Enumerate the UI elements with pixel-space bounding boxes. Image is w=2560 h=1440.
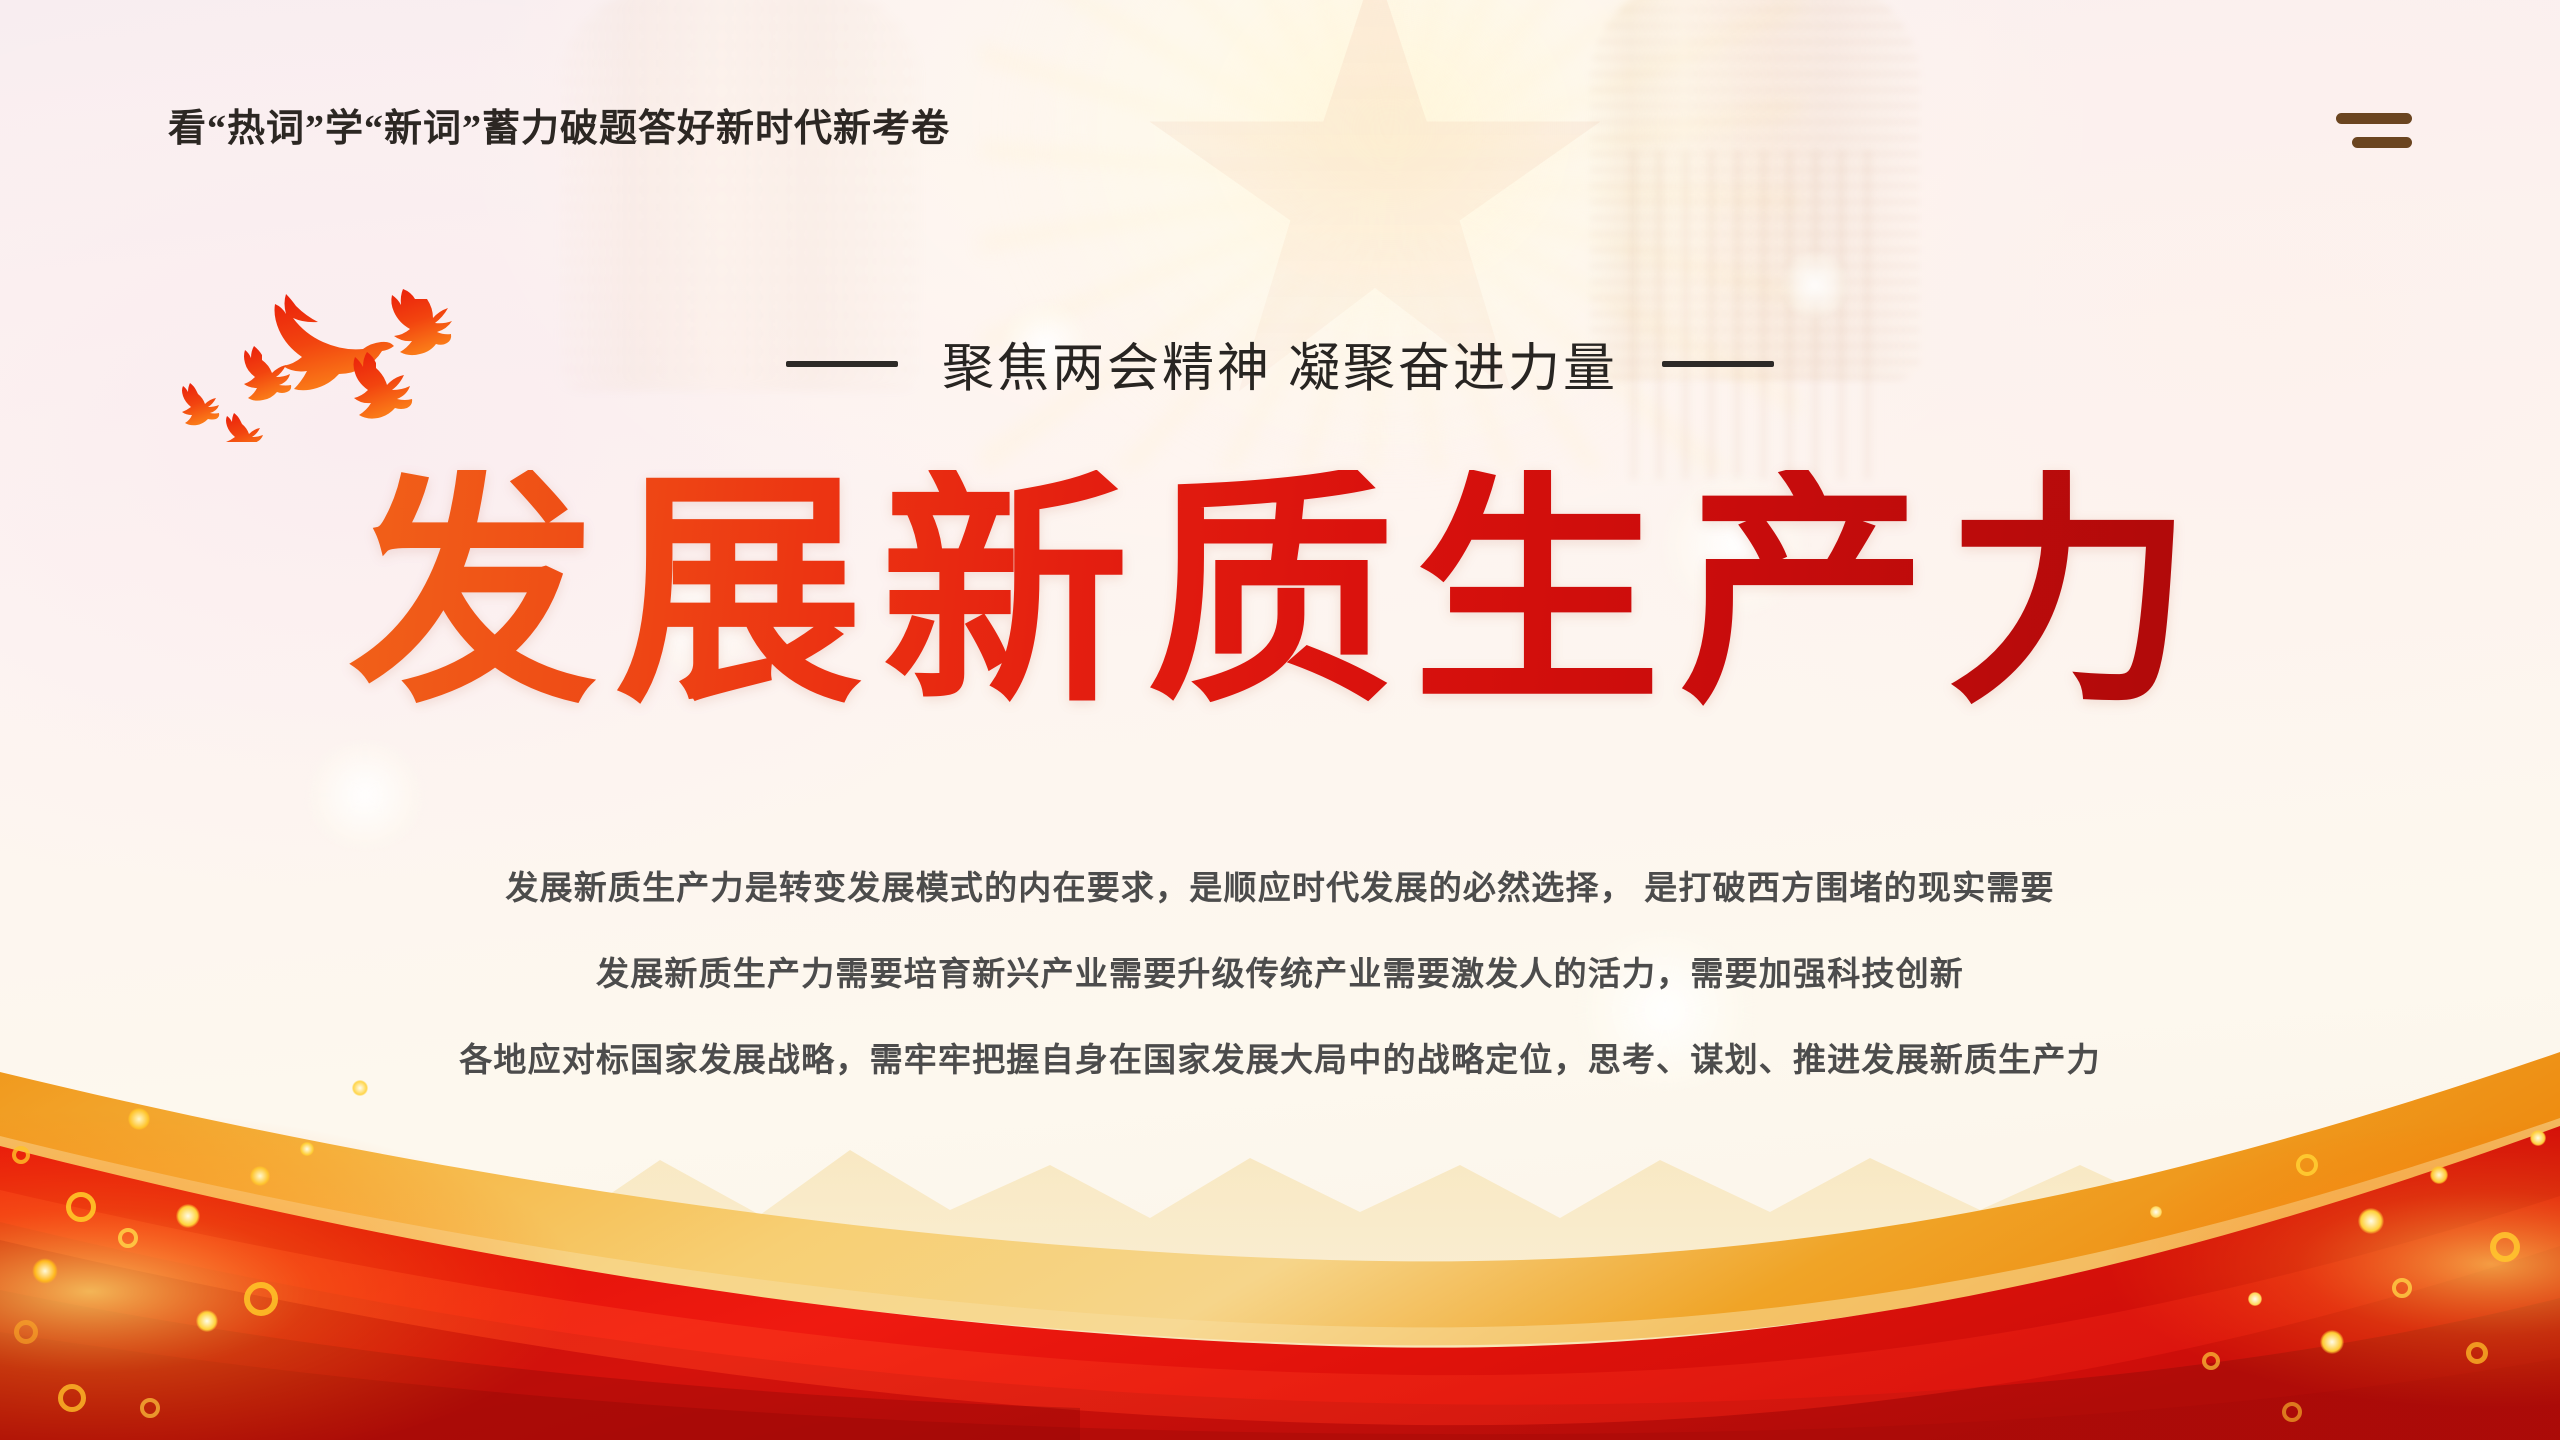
- subtitle-row: 聚焦两会精神 凝聚奋进力量: [0, 326, 2560, 401]
- great-hall-watermark: [1590, 0, 1920, 380]
- bokeh-dot: [1780, 250, 1850, 320]
- main-title: 发展新质生产力: [0, 470, 2560, 720]
- red-silk-ribbon: [0, 960, 2560, 1440]
- page-header: 看“热词”学“新词”蓄力破题答好新时代新考卷: [0, 105, 2560, 175]
- ribbon-glow-right: [1700, 1120, 2560, 1440]
- ribbon-glow-left: [0, 1110, 900, 1440]
- body-line-1: 发展新质生产力是转变发展模式的内在要求，是顺应时代发展的必然选择， 是打破西方围…: [0, 845, 2560, 931]
- bokeh-dot: [300, 740, 430, 850]
- menu-bar-top: [2336, 113, 2412, 124]
- header-title: 看“热词”学“新词”蓄力破题答好新时代新考卷: [168, 105, 950, 153]
- subtitle-text: 聚焦两会精神 凝聚奋进力量: [942, 326, 1618, 401]
- dash-rule-right-icon: [1662, 361, 1774, 367]
- great-hall-columns-watermark: [1630, 150, 1880, 480]
- menu-bar-bottom: [2352, 137, 2412, 148]
- dash-rule-left-icon: [786, 361, 898, 367]
- poster-canvas: 看“热词”学“新词”蓄力破题答好新时代新考卷: [0, 0, 2560, 1440]
- hamburger-menu-icon[interactable]: [2336, 107, 2412, 153]
